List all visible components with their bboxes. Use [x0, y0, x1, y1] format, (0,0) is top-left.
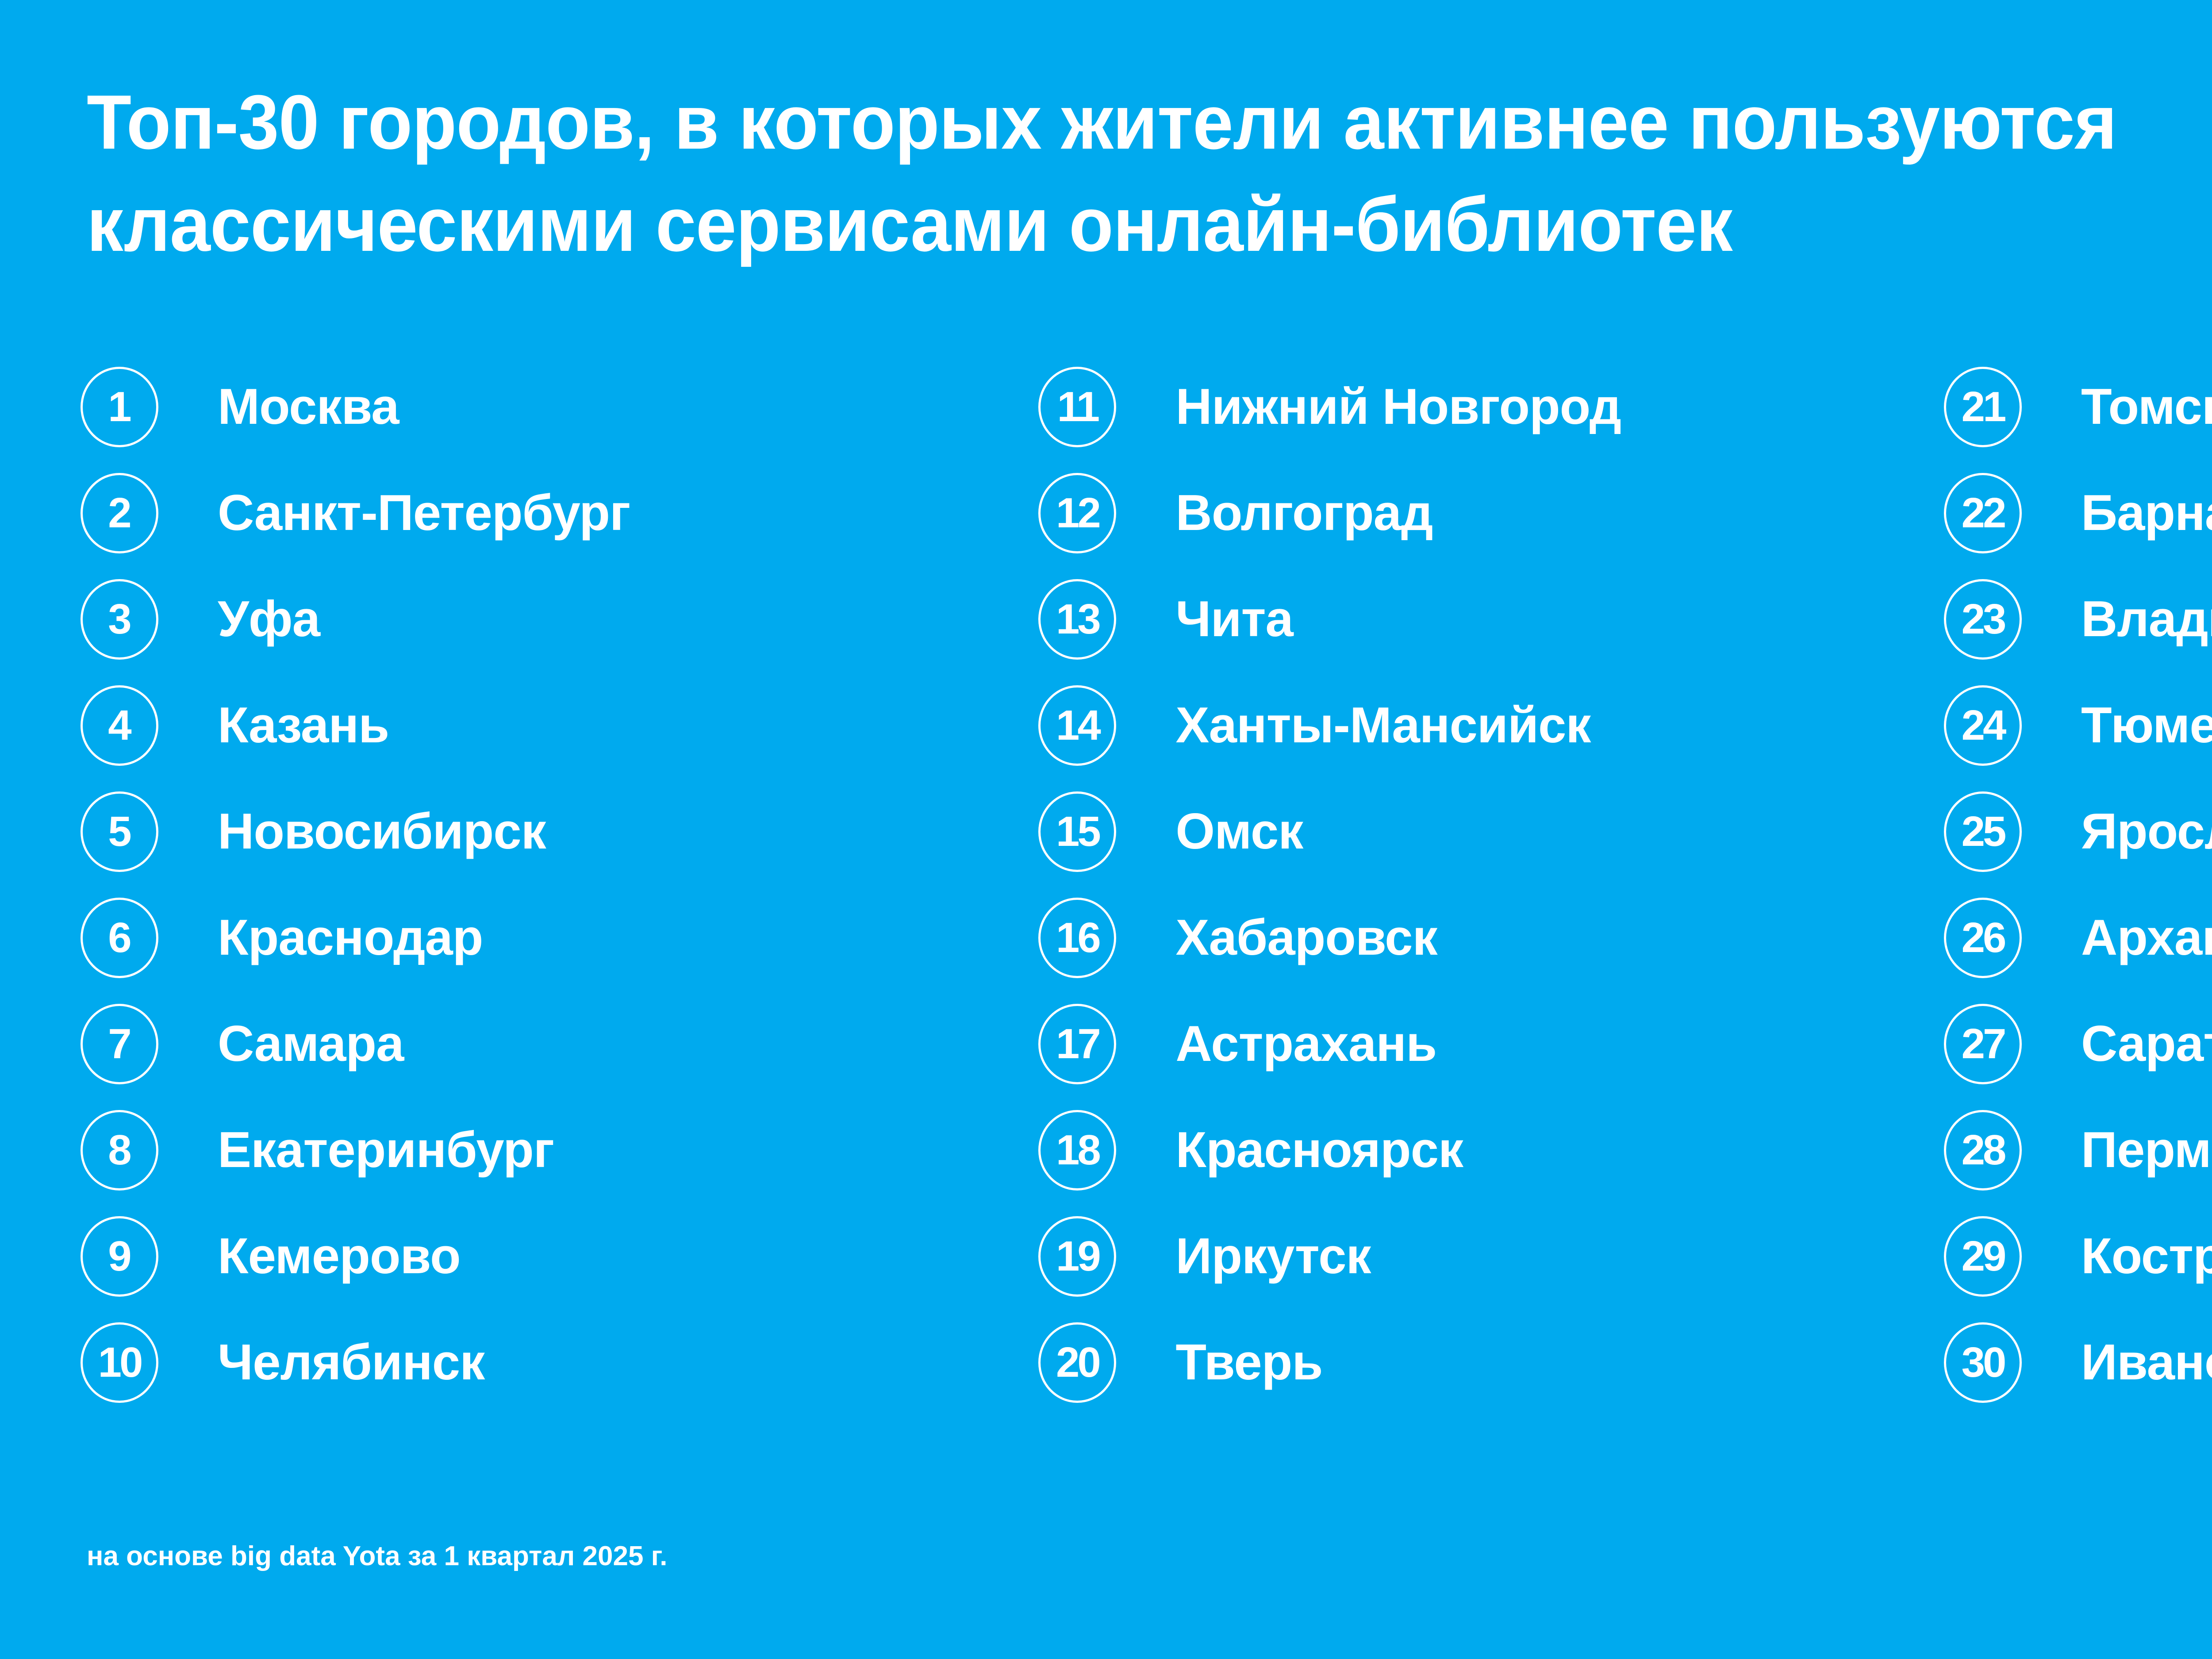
ranking-row: 15Омск — [1038, 779, 1906, 885]
city-name: Кемерово — [218, 1231, 461, 1282]
city-name: Архангельск — [2081, 913, 2212, 963]
rank-badge: 27 — [1944, 1004, 2022, 1084]
rank-badge: 26 — [1944, 898, 2022, 978]
ranking-row: 7Самара — [81, 991, 994, 1097]
ranking-row: 12Волгоград — [1038, 460, 1906, 566]
rank-badge: 11 — [1038, 367, 1116, 447]
city-name: Кострома — [2081, 1231, 2212, 1282]
ranking-row: 25Ярославль — [1944, 779, 2212, 885]
rank-badge: 28 — [1944, 1110, 2022, 1190]
ranking-row: 16Хабаровск — [1038, 885, 1906, 991]
city-name: Иваново — [2081, 1337, 2212, 1388]
city-name: Ханты-Мансийск — [1175, 700, 1590, 751]
city-name: Казань — [218, 700, 389, 751]
city-name: Тюмень — [2081, 700, 2212, 751]
ranking-row: 30Иваново — [1944, 1310, 2212, 1416]
rank-badge: 19 — [1038, 1216, 1116, 1297]
rank-badge: 13 — [1038, 579, 1116, 660]
ranking-row: 5Новосибирск — [81, 779, 994, 885]
city-name: Нижний Новгород — [1175, 382, 1621, 432]
ranking-row: 1Москва — [81, 354, 994, 460]
city-name: Екатеринбург — [218, 1125, 554, 1175]
city-name: Чита — [1175, 594, 1293, 645]
rank-badge: 10 — [81, 1322, 158, 1403]
ranking-row: 9Кемерово — [81, 1203, 994, 1310]
city-name: Омск — [1175, 806, 1303, 857]
ranking-row: 8Екатеринбург — [81, 1097, 994, 1203]
rank-badge: 24 — [1944, 685, 2022, 766]
ranking-row: 2Санкт-Петербург — [81, 460, 994, 566]
rank-badge: 2 — [81, 473, 158, 553]
ranking-row: 10Челябинск — [81, 1310, 994, 1416]
ranking-row: 6Краснодар — [81, 885, 994, 991]
ranking-column-2: 11Нижний Новгород12Волгоград13Чита14Хант… — [994, 354, 1906, 1416]
city-name: Волгоград — [1175, 488, 1432, 538]
city-name: Пермь — [2081, 1125, 2212, 1175]
ranking-row: 28Пермь — [1944, 1097, 2212, 1203]
city-name: Ярославль — [2081, 806, 2212, 857]
city-name: Уфа — [218, 594, 320, 645]
page-title: Топ-30 городов, в которых жители активне… — [87, 71, 2212, 276]
ranking-row: 23Владивосток — [1944, 566, 2212, 672]
city-name: Тверь — [1175, 1337, 1322, 1388]
rank-badge: 15 — [1038, 791, 1116, 872]
city-name: Саратов — [2081, 1019, 2212, 1069]
ranking-row: 4Казань — [81, 672, 994, 779]
ranking-column-3: 21Томск22Барнаул23Владивосток24Тюмень25Я… — [1906, 354, 2212, 1416]
ranking-row: 17Астрахань — [1038, 991, 1906, 1097]
ranking-row: 13Чита — [1038, 566, 1906, 672]
city-name: Барнаул — [2081, 488, 2212, 538]
rank-badge: 8 — [81, 1110, 158, 1190]
rank-badge: 18 — [1038, 1110, 1116, 1190]
rank-badge: 17 — [1038, 1004, 1116, 1084]
rank-badge: 20 — [1038, 1322, 1116, 1403]
ranking-row: 29Кострома — [1944, 1203, 2212, 1310]
rank-badge: 29 — [1944, 1216, 2022, 1297]
rank-badge: 6 — [81, 898, 158, 978]
rank-badge: 5 — [81, 791, 158, 872]
page-title-line-1: Топ-30 городов, в которых жители активне… — [87, 71, 2212, 173]
city-name: Красноярск — [1175, 1125, 1463, 1175]
rank-badge: 16 — [1038, 898, 1116, 978]
ranking-row: 26Архангельск — [1944, 885, 2212, 991]
city-name: Хабаровск — [1175, 913, 1437, 963]
ranking-row: 24Тюмень — [1944, 672, 2212, 779]
city-name: Краснодар — [218, 913, 483, 963]
ranking-row: 18Красноярск — [1038, 1097, 1906, 1203]
city-name: Иркутск — [1175, 1231, 1371, 1282]
rank-badge: 9 — [81, 1216, 158, 1297]
rank-badge: 21 — [1944, 367, 2022, 447]
city-name: Томск — [2081, 382, 2212, 432]
ranking-row: 14Ханты-Мансийск — [1038, 672, 1906, 779]
rank-badge: 30 — [1944, 1322, 2022, 1403]
rank-badge: 23 — [1944, 579, 2022, 660]
ranking-row: 27Саратов — [1944, 991, 2212, 1097]
ranking-row: 11Нижний Новгород — [1038, 354, 1906, 460]
ranking-column-1: 1Москва2Санкт-Петербург3Уфа4Казань5Новос… — [0, 354, 994, 1416]
rank-badge: 25 — [1944, 791, 2022, 872]
ranking-row: 20Тверь — [1038, 1310, 1906, 1416]
rank-badge: 4 — [81, 685, 158, 766]
rank-badge: 22 — [1944, 473, 2022, 553]
city-name: Челябинск — [218, 1337, 484, 1388]
city-name: Новосибирск — [218, 806, 546, 857]
rank-badge: 3 — [81, 579, 158, 660]
city-name: Самара — [218, 1019, 403, 1069]
source-footnote: на основе big data Yota за 1 квартал 202… — [87, 1540, 668, 1572]
rank-badge: 7 — [81, 1004, 158, 1084]
ranking-row: 21Томск — [1944, 354, 2212, 460]
rank-badge: 1 — [81, 367, 158, 447]
ranking-row: 22Барнаул — [1944, 460, 2212, 566]
city-name: Астрахань — [1175, 1019, 1436, 1069]
rank-badge: 14 — [1038, 685, 1116, 766]
ranking-row: 19Иркутск — [1038, 1203, 1906, 1310]
infographic-canvas: Топ-30 городов, в которых жители активне… — [0, 0, 2212, 1659]
rank-badge: 12 — [1038, 473, 1116, 553]
page-title-line-2: классическими сервисами онлайн-библиотек — [87, 173, 2212, 275]
ranking-columns: 1Москва2Санкт-Петербург3Уфа4Казань5Новос… — [0, 354, 2212, 1416]
city-name: Владивосток — [2081, 594, 2212, 645]
ranking-row: 3Уфа — [81, 566, 994, 672]
city-name: Москва — [218, 382, 399, 432]
city-name: Санкт-Петербург — [218, 488, 630, 538]
